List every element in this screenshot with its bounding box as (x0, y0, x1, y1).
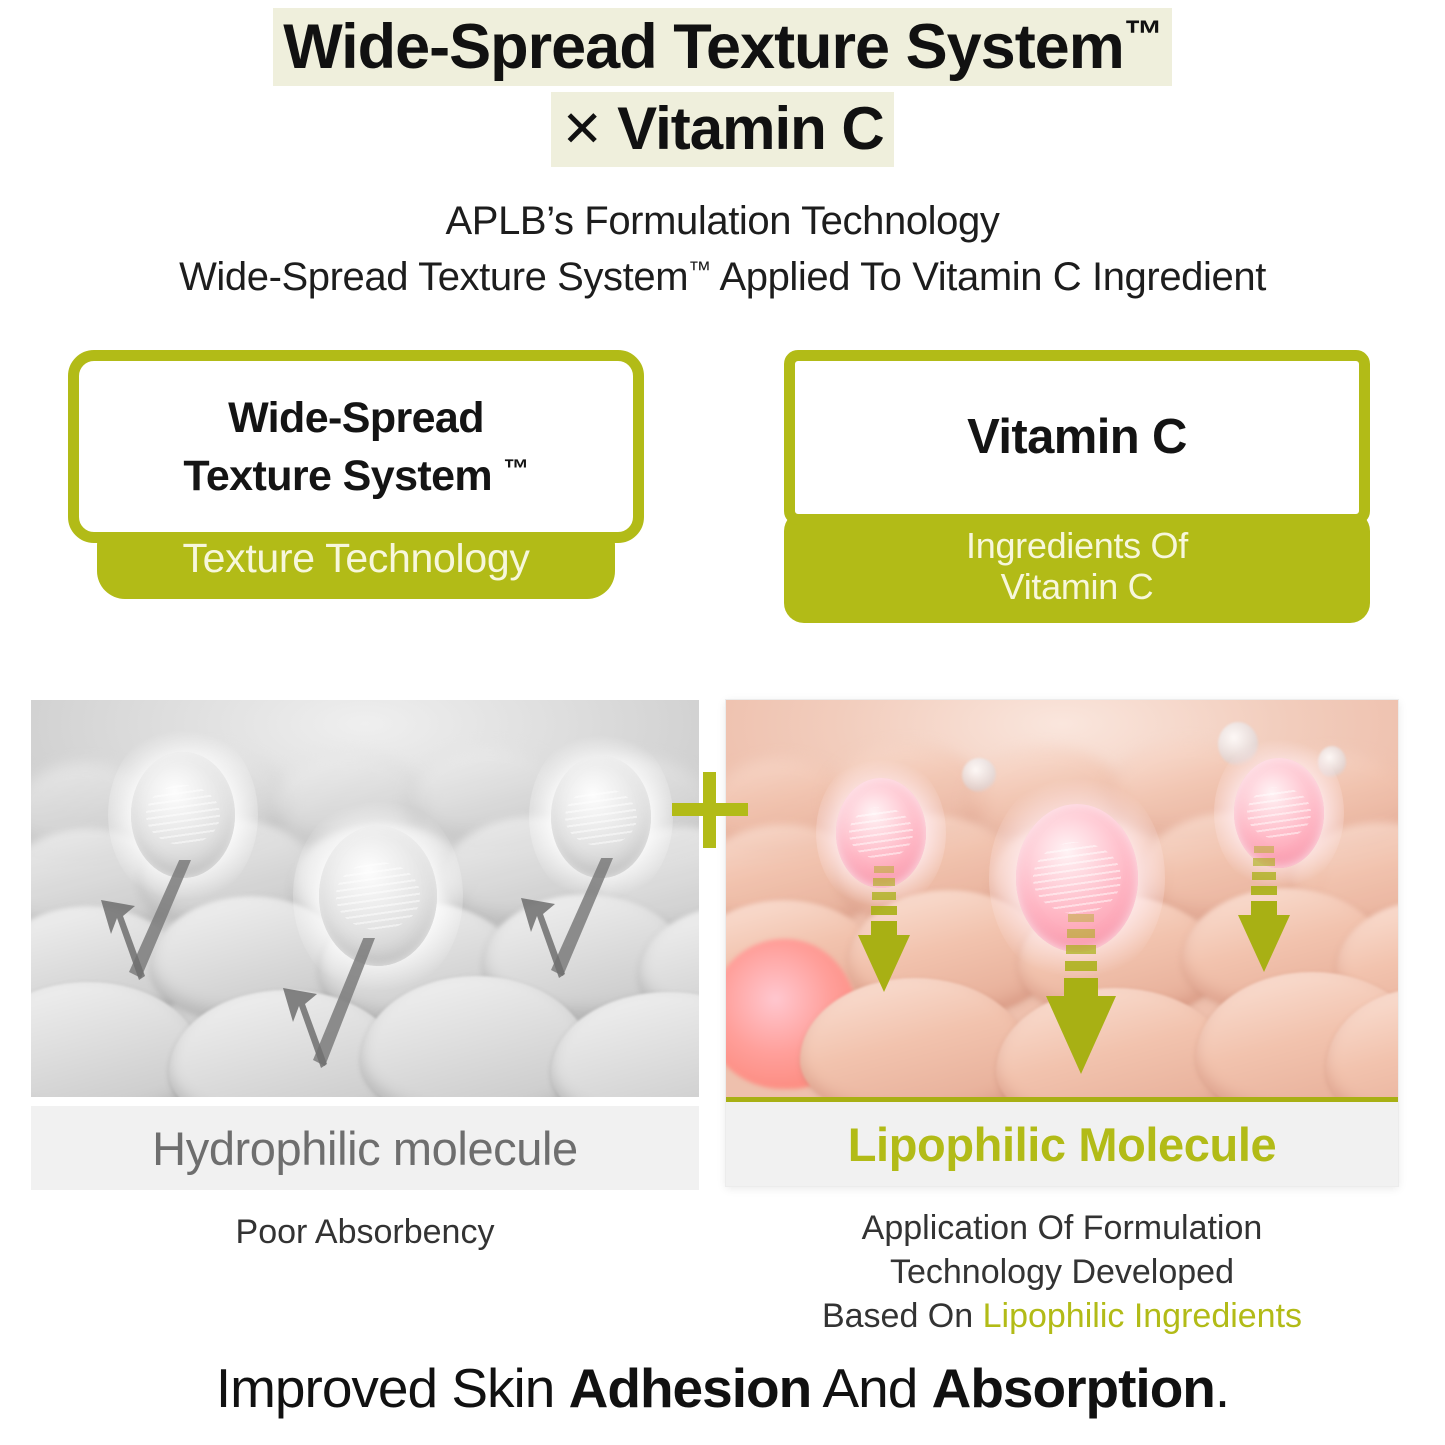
lipophilic-caption-band: Lipophilic Molecule (726, 1102, 1398, 1186)
lipophilic-illustration (726, 700, 1398, 1097)
title-block: Wide-Spread Texture System™ ✕Vitamin C (0, 0, 1445, 167)
badge-row: Wide-Spread Texture System ™ Texture Tec… (0, 332, 1445, 632)
footer-part1: Improved Skin (216, 1357, 569, 1419)
footer-tagline: Improved Skin Adhesion And Absorption. (0, 1356, 1445, 1420)
title-line-2-text: Vitamin C (617, 95, 884, 162)
footer-bold-adhesion: Adhesion (569, 1357, 812, 1419)
title-line-1: Wide-Spread Texture System™ (273, 8, 1172, 86)
absorption-arrow-icon (1236, 846, 1296, 982)
plus-icon (672, 772, 748, 848)
title-line-1-wrap: Wide-Spread Texture System™ (0, 8, 1445, 86)
panel-hydrophilic: Hydrophilic molecule (31, 700, 699, 1190)
absorption-arrow-icon (856, 866, 916, 1002)
footer-part2: And (811, 1357, 931, 1419)
badge-texture-system-box: Wide-Spread Texture System ™ (68, 350, 644, 543)
hydrophilic-illustration (31, 700, 699, 1097)
subtitle-line-2: Wide-Spread Texture System™ Applied To V… (0, 249, 1445, 306)
hydrophilic-description: Poor Absorbency (31, 1213, 699, 1252)
subtitle-line-2-b: Applied To Vitamin C Ingredient (711, 255, 1266, 299)
footer-bold-absorption: Absorption (932, 1357, 1215, 1419)
hydrophilic-caption: Hydrophilic molecule (152, 1121, 578, 1176)
badge-vitamin-c: Vitamin C Ingredients Of Vitamin C (784, 350, 1370, 623)
badge-left-line2: Texture System (183, 452, 503, 500)
badge-right-pill-line1: Ingredients Of (966, 525, 1188, 566)
title-line-2: ✕Vitamin C (551, 92, 894, 166)
lipophilic-ingredients-highlight: Lipophilic Ingredients (983, 1297, 1302, 1335)
subtitle-line-2-a: Wide-Spread Texture System (179, 255, 688, 299)
subtitle-line-1: APLB’s Formulation Technology (0, 193, 1445, 250)
trademark-symbol: ™ (503, 455, 528, 483)
title-line-1-text: Wide-Spread Texture System (283, 12, 1124, 82)
multiply-icon: ✕ (561, 101, 617, 157)
lipophilic-description-line2: Technology Developed (726, 1250, 1398, 1294)
trademark-symbol: ™ (1124, 14, 1162, 57)
badge-vitamin-c-box: Vitamin C (784, 350, 1370, 525)
footer-part3: . (1215, 1357, 1229, 1419)
badge-vitamin-c-pill-text: Ingredients Of Vitamin C (966, 526, 1188, 607)
absorption-arrow-icon (1044, 914, 1120, 1086)
badge-texture-system-box-text: Wide-Spread Texture System ™ (183, 389, 528, 505)
badge-vitamin-c-pill: Ingredients Of Vitamin C (784, 511, 1370, 623)
lipophilic-description: Application Of Formulation Technology De… (726, 1206, 1398, 1339)
rebound-arrow-icon (259, 938, 419, 1097)
badge-vitamin-c-box-text: Vitamin C (967, 408, 1187, 467)
lipophilic-description-line1: Application Of Formulation (726, 1206, 1398, 1250)
subtitle-block: APLB’s Formulation Technology Wide-Sprea… (0, 193, 1445, 307)
infographic-page: Wide-Spread Texture System™ ✕Vitamin C A… (0, 0, 1445, 1445)
rebound-arrow-icon (497, 858, 657, 1008)
lipophilic-description-line3-a: Based On (822, 1297, 983, 1335)
lipophilic-description-line3: Based On Lipophilic Ingredients (726, 1294, 1398, 1338)
hydrophilic-caption-band: Hydrophilic molecule (31, 1106, 699, 1190)
badge-right-pill-line2: Vitamin C (1001, 566, 1154, 607)
rebound-arrow-icon (81, 860, 241, 1010)
lipophilic-caption: Lipophilic Molecule (848, 1117, 1276, 1172)
title-line-2-wrap: ✕Vitamin C (0, 86, 1445, 166)
panel-lipophilic: Lipophilic Molecule (726, 700, 1398, 1186)
trademark-symbol: ™ (688, 257, 711, 283)
badge-texture-system: Wide-Spread Texture System ™ Texture Tec… (68, 350, 644, 599)
badge-left-line1: Wide-Spread (228, 394, 484, 442)
